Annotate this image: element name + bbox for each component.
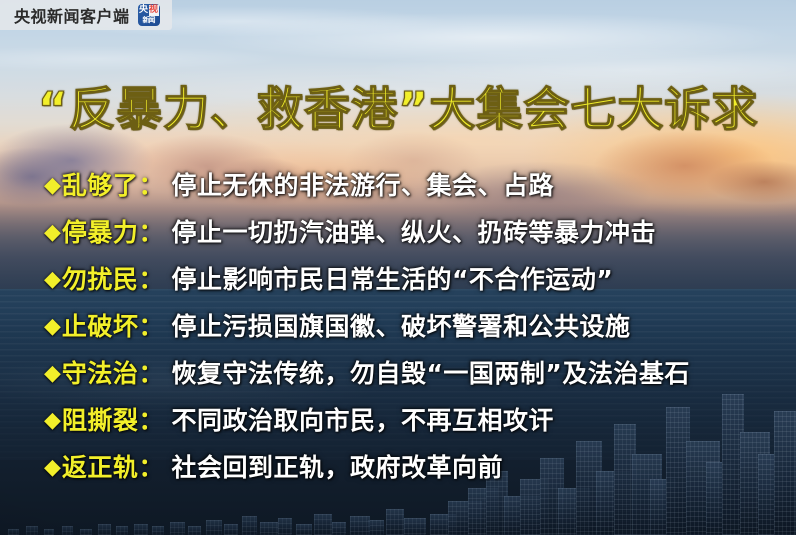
demand-text: 停止污损国旗国徽、破坏警署和公共设施 bbox=[171, 307, 630, 343]
cctv-news-logo-icon: 央 视 新闻 bbox=[138, 4, 160, 26]
demand-row: ◆停暴力：停止一切扔汽油弹、纵火、扔砖等暴力冲击 bbox=[44, 213, 786, 260]
logo-char-yang: 央 bbox=[139, 5, 149, 16]
diamond-bullet-icon: ◆ bbox=[44, 269, 61, 291]
demand-text: 社会回到正轨，政府改革向前 bbox=[171, 448, 503, 484]
demand-list: ◆乱够了：停止无休的非法游行、集会、占路◆停暴力：停止一切扔汽油弹、纵火、扔砖等… bbox=[44, 166, 786, 495]
demand-label: 返正轨 bbox=[62, 448, 139, 484]
channel-name: 央视新闻客户端 bbox=[14, 3, 130, 27]
demand-colon: ： bbox=[138, 448, 163, 484]
diamond-bullet-icon: ◆ bbox=[44, 222, 61, 244]
diamond-bullet-icon: ◆ bbox=[44, 175, 61, 197]
demand-row: ◆乱够了：停止无休的非法游行、集会、占路 bbox=[44, 166, 786, 213]
demand-row: ◆返正轨：社会回到正轨，政府改革向前 bbox=[44, 448, 786, 495]
demand-colon: ： bbox=[138, 307, 163, 343]
diamond-bullet-icon: ◆ bbox=[44, 316, 61, 338]
diamond-bullet-icon: ◆ bbox=[44, 410, 61, 432]
demand-text: 停止无休的非法游行、集会、占路 bbox=[171, 166, 554, 202]
demand-label: 阻撕裂 bbox=[62, 401, 139, 437]
demand-colon: ： bbox=[138, 354, 163, 390]
demand-colon: ： bbox=[138, 213, 163, 249]
headline-title: “反暴力、救香港”大集会七大诉求 bbox=[0, 86, 796, 132]
logo-text-news: 新闻 bbox=[139, 16, 159, 25]
demand-row: ◆守法治：恢复守法传统，勿自毁“一国两制”及法治基石 bbox=[44, 354, 786, 401]
diamond-bullet-icon: ◆ bbox=[44, 457, 61, 479]
demand-text: 停止影响市民日常生活的“不合作运动” bbox=[171, 260, 613, 296]
demand-label: 守法治 bbox=[62, 354, 139, 390]
demand-row: ◆勿扰民：停止影响市民日常生活的“不合作运动” bbox=[44, 260, 786, 307]
logo-char-shi: 视 bbox=[149, 5, 159, 16]
demand-row: ◆阻撕裂：不同政治取向市民，不再互相攻讦 bbox=[44, 401, 786, 448]
demand-colon: ： bbox=[138, 260, 163, 296]
demand-label: 停暴力 bbox=[62, 213, 139, 249]
demand-colon: ： bbox=[138, 401, 163, 437]
diamond-bullet-icon: ◆ bbox=[44, 363, 61, 385]
demand-text: 不同政治取向市民，不再互相攻讦 bbox=[171, 401, 554, 437]
demand-label: 乱够了 bbox=[62, 166, 139, 202]
demand-row: ◆止破坏：停止污损国旗国徽、破坏警署和公共设施 bbox=[44, 307, 786, 354]
channel-badge: 央视新闻客户端 央 视 新闻 bbox=[0, 0, 172, 30]
demand-label: 止破坏 bbox=[62, 307, 139, 343]
demand-label: 勿扰民 bbox=[62, 260, 139, 296]
demand-text: 恢复守法传统，勿自毁“一国两制”及法治基石 bbox=[171, 354, 689, 390]
demand-colon: ： bbox=[138, 166, 163, 202]
news-graphic-screen: 央视新闻客户端 央 视 新闻 “反暴力、救香港”大集会七大诉求 ◆乱够了：停止无… bbox=[0, 0, 796, 535]
demand-text: 停止一切扔汽油弹、纵火、扔砖等暴力冲击 bbox=[171, 213, 656, 249]
